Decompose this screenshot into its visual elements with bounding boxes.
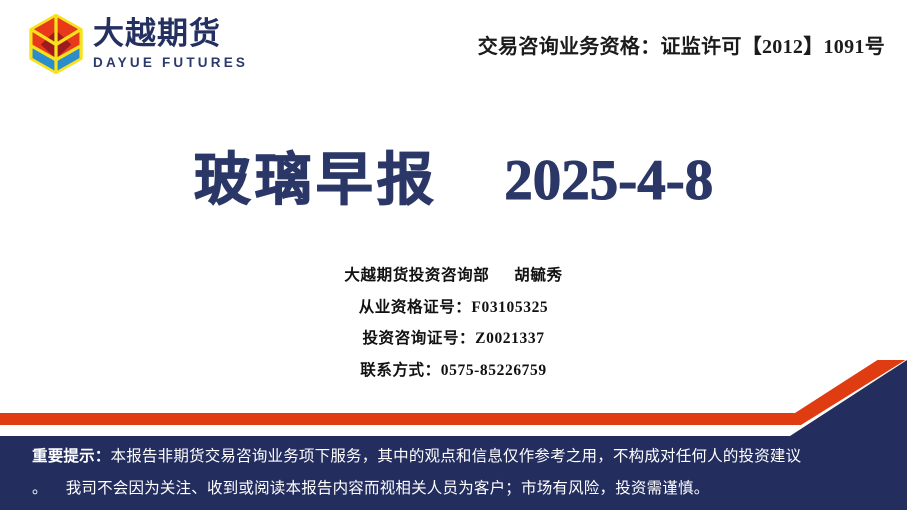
contact-line-phone: 联系方式：0575-85226759: [0, 363, 907, 379]
practice-license-value: F03105325: [471, 299, 548, 316]
practice-license-label: 从业资格证号：: [359, 299, 472, 316]
dayue-hexagon-logo-icon: [28, 14, 84, 74]
disclaimer-block: 重要提示：本报告非期货交易咨询业务项下服务，其中的观点和信息仅作参考之用，不构成…: [0, 437, 907, 510]
phone-value: 0575-85226759: [441, 362, 547, 379]
disclaimer-line-2: 。我司不会因为关注、收到或阅读本报告内容而视相关人员为客户；市场有风险，投资需谨…: [32, 481, 877, 497]
disclaimer-text-1: 本报告非期货交易咨询业务项下服务，其中的观点和信息仅作参考之用，不构成对任何人的…: [111, 448, 802, 465]
advisory-license-label: 投资咨询证号：: [362, 330, 475, 347]
report-title-row: 玻璃早报 2025-4-8: [0, 134, 907, 216]
advisory-license-value: Z0021337: [475, 330, 544, 347]
report-title: 玻璃早报 2025-4-8: [194, 134, 713, 216]
analyst-name: 胡毓秀: [514, 267, 562, 284]
qualification-text: 交易咨询业务资格：证监许可【2012】1091号: [478, 30, 885, 59]
contact-block: 大越期货投资咨询部 胡毓秀 从业资格证号：F03105325 投资咨询证号：Z0…: [0, 268, 907, 378]
brand-name-en: DAYUE FUTURES: [93, 56, 248, 70]
department-name: 大越期货投资咨询部: [344, 267, 489, 284]
disclaimer-label: 重要提示：: [32, 448, 111, 465]
disclaimer-text-2: 我司不会因为关注、收到或阅读本报告内容而视相关人员为客户；市场有风险，投资需谨慎…: [66, 480, 710, 497]
contact-line-practice-license: 从业资格证号：F03105325: [0, 300, 907, 316]
contact-line-department: 大越期货投资咨询部 胡毓秀: [0, 268, 907, 284]
disclaimer-line2-prefix: 。: [32, 480, 48, 497]
slide-page: 大越期货 DAYUE FUTURES 交易咨询业务资格：证监许可【2012】10…: [0, 0, 907, 510]
disclaimer-line-1: 重要提示：本报告非期货交易咨询业务项下服务，其中的观点和信息仅作参考之用，不构成…: [32, 449, 877, 465]
brand-name-cn: 大越期货: [93, 18, 221, 51]
contact-line-advisory-license: 投资咨询证号：Z0021337: [0, 331, 907, 347]
page-header: 大越期货 DAYUE FUTURES 交易咨询业务资格：证监许可【2012】10…: [0, 0, 907, 96]
phone-label: 联系方式：: [360, 362, 441, 379]
brand-text: 大越期货 DAYUE FUTURES: [93, 18, 248, 69]
report-title-date: 2025-4-8: [504, 149, 713, 212]
brand-logo: 大越期货 DAYUE FUTURES: [28, 14, 248, 74]
report-title-main: 玻璃早报: [194, 149, 438, 212]
